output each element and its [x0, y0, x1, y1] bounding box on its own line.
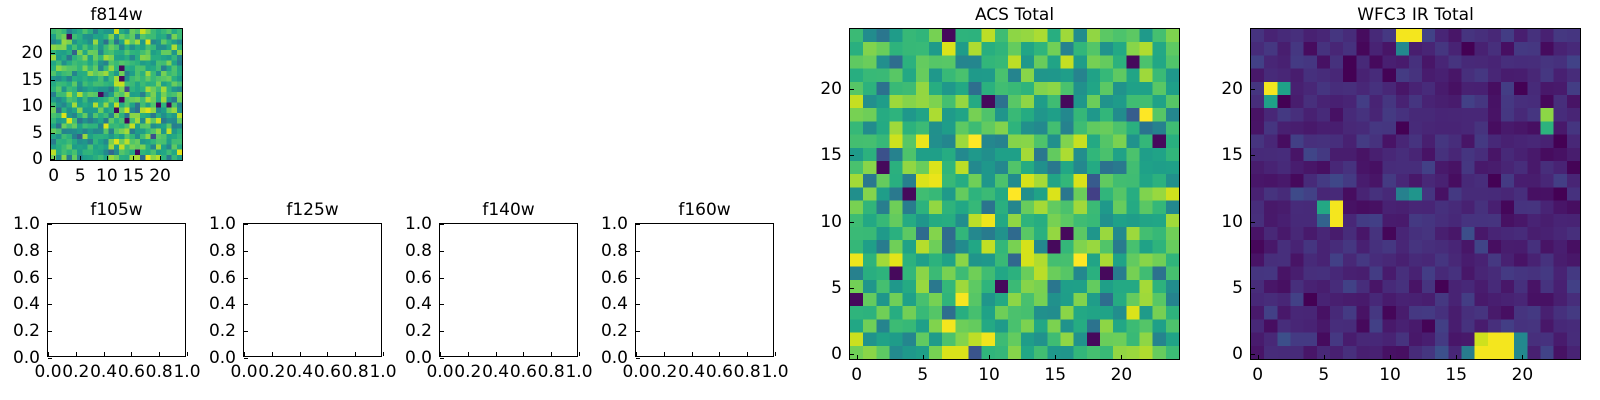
yticklabel-f160w-5: 1.0 — [601, 214, 628, 234]
axes-title-f160w: f160w — [636, 200, 773, 220]
yticklabel-f105w-3: 0.6 — [13, 268, 40, 288]
axes-title-f814w: f814w — [51, 5, 182, 25]
yticklabel-f125w-3: 0.6 — [209, 268, 236, 288]
xticklabel-wfc3-ir-total-3: 15 — [1445, 365, 1467, 385]
xtick-f160w-5 — [775, 352, 776, 356]
axes-title-f125w: f125w — [244, 200, 381, 220]
xtick-f160w-4 — [747, 352, 748, 356]
ytick-f105w-4 — [48, 251, 52, 252]
xtick-f105w-3 — [131, 352, 132, 356]
ytick-f125w-5 — [244, 224, 248, 225]
xtick-acs-total-0 — [857, 355, 858, 359]
xticklabel-wfc3-ir-total-0: 0 — [1252, 365, 1263, 385]
xtick-acs-total-1 — [923, 355, 924, 359]
axes-wfc3-ir-total: WFC3 IR Total0510152005101520 — [1250, 28, 1581, 360]
xtick-wfc3-ir-total-3 — [1456, 355, 1457, 359]
ytick-wfc3-ir-total-4 — [1251, 89, 1255, 90]
xtick-wfc3-ir-total-4 — [1522, 355, 1523, 359]
ytick-acs-total-0 — [850, 354, 854, 355]
axes-acs-total: ACS Total0510152005101520 — [849, 28, 1180, 360]
xticklabel-f814w-3: 15 — [123, 166, 145, 186]
ytick-f160w-3 — [636, 278, 640, 279]
xtick-f105w-5 — [187, 352, 188, 356]
xticklabel-f125w-1: 0.2 — [258, 362, 285, 382]
xticklabel-f814w-1: 5 — [75, 166, 86, 186]
xtick-f814w-3 — [133, 156, 134, 160]
yticklabel-f140w-1: 0.2 — [405, 321, 432, 341]
ytick-wfc3-ir-total-0 — [1251, 354, 1255, 355]
xtick-f140w-0 — [440, 352, 441, 356]
ytick-f140w-4 — [440, 251, 444, 252]
yticklabel-f140w-2: 0.4 — [405, 294, 432, 314]
xticklabel-f125w-5: 1.0 — [369, 362, 396, 382]
axes-f105w: f105w0.00.20.40.60.81.00.00.20.40.60.81.… — [47, 223, 186, 357]
xtick-f125w-4 — [355, 352, 356, 356]
yticklabel-acs-total-3: 15 — [820, 145, 842, 165]
xtick-f105w-0 — [48, 352, 49, 356]
xtick-f105w-1 — [76, 352, 77, 356]
xtick-f125w-5 — [383, 352, 384, 356]
ytick-f140w-1 — [440, 331, 444, 332]
axes-title-f105w: f105w — [48, 200, 185, 220]
xticklabel-f140w-1: 0.2 — [454, 362, 481, 382]
ytick-f814w-1 — [51, 133, 55, 134]
ytick-f814w-0 — [51, 159, 55, 160]
ytick-f140w-3 — [440, 278, 444, 279]
matplotlib-figure: f814w0510152005101520f105w0.00.20.40.60.… — [0, 0, 1600, 400]
yticklabel-f125w-4: 0.8 — [209, 241, 236, 261]
ytick-acs-total-4 — [850, 89, 854, 90]
ytick-f125w-0 — [244, 358, 248, 359]
ytick-wfc3-ir-total-1 — [1251, 288, 1255, 289]
xticklabel-f140w-4: 0.8 — [538, 362, 565, 382]
yticklabel-f125w-2: 0.4 — [209, 294, 236, 314]
ytick-f160w-5 — [636, 224, 640, 225]
yticklabel-f140w-0: 0.0 — [405, 348, 432, 368]
xticklabel-acs-total-2: 10 — [978, 365, 1000, 385]
xticklabel-f814w-4: 20 — [149, 166, 171, 186]
xtick-wfc3-ir-total-2 — [1390, 355, 1391, 359]
axes-f814w: f814w0510152005101520 — [50, 28, 183, 161]
axes-f140w: f140w0.00.20.40.60.81.00.00.20.40.60.81.… — [439, 223, 578, 357]
ytick-acs-total-3 — [850, 155, 854, 156]
xtick-f160w-0 — [636, 352, 637, 356]
yticklabel-f125w-5: 1.0 — [209, 214, 236, 234]
xticklabel-f125w-4: 0.8 — [342, 362, 369, 382]
xticklabel-wfc3-ir-total-4: 20 — [1512, 365, 1534, 385]
xtick-f814w-2 — [107, 156, 108, 160]
ytick-f105w-5 — [48, 224, 52, 225]
yticklabel-f140w-4: 0.8 — [405, 241, 432, 261]
yticklabel-f814w-3: 15 — [21, 70, 43, 90]
xtick-f814w-4 — [160, 156, 161, 160]
xticklabel-acs-total-3: 15 — [1044, 365, 1066, 385]
xtick-wfc3-ir-total-1 — [1324, 355, 1325, 359]
yticklabel-wfc3-ir-total-1: 5 — [1232, 278, 1243, 298]
xticklabel-f160w-5: 1.0 — [761, 362, 788, 382]
ytick-f125w-2 — [244, 304, 248, 305]
xtick-acs-total-3 — [1055, 355, 1056, 359]
yticklabel-f105w-5: 1.0 — [13, 214, 40, 234]
yticklabel-acs-total-0: 0 — [831, 344, 842, 364]
xtick-f125w-1 — [272, 352, 273, 356]
ytick-f814w-4 — [51, 53, 55, 54]
xticklabel-acs-total-4: 20 — [1111, 365, 1133, 385]
heatmap-image-wfc3-ir-total — [1251, 29, 1580, 359]
xtick-acs-total-2 — [989, 355, 990, 359]
axes-f160w: f160w0.00.20.40.60.81.00.00.20.40.60.81.… — [635, 223, 774, 357]
xtick-f160w-1 — [664, 352, 665, 356]
ytick-f105w-3 — [48, 278, 52, 279]
xticklabel-f160w-1: 0.2 — [650, 362, 677, 382]
yticklabel-f160w-1: 0.2 — [601, 321, 628, 341]
ytick-f125w-4 — [244, 251, 248, 252]
ytick-f105w-0 — [48, 358, 52, 359]
ytick-f140w-5 — [440, 224, 444, 225]
ytick-f125w-3 — [244, 278, 248, 279]
yticklabel-f125w-0: 0.0 — [209, 348, 236, 368]
xtick-f160w-3 — [719, 352, 720, 356]
xtick-f125w-2 — [300, 352, 301, 356]
ytick-f160w-1 — [636, 331, 640, 332]
yticklabel-f105w-2: 0.4 — [13, 294, 40, 314]
ytick-f140w-0 — [440, 358, 444, 359]
ytick-f160w-4 — [636, 251, 640, 252]
xticklabel-f105w-3: 0.6 — [118, 362, 145, 382]
xtick-f140w-5 — [579, 352, 580, 356]
yticklabel-f814w-0: 0 — [32, 149, 43, 169]
ytick-acs-total-2 — [850, 222, 854, 223]
axes-title-wfc3-ir-total: WFC3 IR Total — [1251, 5, 1580, 25]
yticklabel-acs-total-4: 20 — [820, 79, 842, 99]
axes-title-f140w: f140w — [440, 200, 577, 220]
ytick-f140w-2 — [440, 304, 444, 305]
yticklabel-wfc3-ir-total-2: 10 — [1221, 212, 1243, 232]
yticklabel-f160w-4: 0.8 — [601, 241, 628, 261]
yticklabel-f160w-2: 0.4 — [601, 294, 628, 314]
yticklabel-f814w-2: 10 — [21, 96, 43, 116]
xticklabel-f105w-2: 0.4 — [90, 362, 117, 382]
ytick-wfc3-ir-total-3 — [1251, 155, 1255, 156]
yticklabel-f125w-1: 0.2 — [209, 321, 236, 341]
yticklabel-acs-total-2: 10 — [820, 212, 842, 232]
xtick-f140w-3 — [523, 352, 524, 356]
ytick-f105w-1 — [48, 331, 52, 332]
xtick-f140w-1 — [468, 352, 469, 356]
xtick-f814w-1 — [80, 156, 81, 160]
xtick-f140w-2 — [496, 352, 497, 356]
ytick-acs-total-1 — [850, 288, 854, 289]
xticklabel-f140w-3: 0.6 — [510, 362, 537, 382]
xticklabel-f105w-1: 0.2 — [62, 362, 89, 382]
yticklabel-f105w-4: 0.8 — [13, 241, 40, 261]
xticklabel-f105w-5: 1.0 — [173, 362, 200, 382]
ytick-f125w-1 — [244, 331, 248, 332]
axes-title-acs-total: ACS Total — [850, 5, 1179, 25]
xticklabel-f160w-4: 0.8 — [734, 362, 761, 382]
yticklabel-f814w-1: 5 — [32, 123, 43, 143]
ytick-f814w-3 — [51, 80, 55, 81]
yticklabel-f140w-3: 0.6 — [405, 268, 432, 288]
xticklabel-wfc3-ir-total-2: 10 — [1379, 365, 1401, 385]
yticklabel-wfc3-ir-total-3: 15 — [1221, 145, 1243, 165]
yticklabel-f140w-5: 1.0 — [405, 214, 432, 234]
yticklabel-f160w-3: 0.6 — [601, 268, 628, 288]
heatmap-image-f814w — [51, 29, 182, 160]
ytick-f814w-2 — [51, 106, 55, 107]
xtick-f125w-3 — [327, 352, 328, 356]
xtick-f125w-0 — [244, 352, 245, 356]
ytick-f105w-2 — [48, 304, 52, 305]
yticklabel-f814w-4: 20 — [21, 43, 43, 63]
xticklabel-f105w-4: 0.8 — [146, 362, 173, 382]
xtick-f140w-4 — [551, 352, 552, 356]
xticklabel-f140w-2: 0.4 — [482, 362, 509, 382]
xtick-f105w-2 — [104, 352, 105, 356]
xticklabel-f160w-3: 0.6 — [706, 362, 733, 382]
xtick-acs-total-4 — [1121, 355, 1122, 359]
xticklabel-f125w-2: 0.4 — [286, 362, 313, 382]
xticklabel-f140w-5: 1.0 — [565, 362, 592, 382]
xticklabel-f125w-3: 0.6 — [314, 362, 341, 382]
xticklabel-f814w-0: 0 — [48, 166, 59, 186]
xticklabel-acs-total-1: 5 — [917, 365, 928, 385]
yticklabel-f105w-1: 0.2 — [13, 321, 40, 341]
xticklabel-wfc3-ir-total-1: 5 — [1318, 365, 1329, 385]
ytick-f160w-2 — [636, 304, 640, 305]
xticklabel-f160w-2: 0.4 — [678, 362, 705, 382]
heatmap-image-acs-total — [850, 29, 1179, 359]
xticklabel-acs-total-0: 0 — [851, 365, 862, 385]
yticklabel-wfc3-ir-total-0: 0 — [1232, 344, 1243, 364]
axes-f125w: f125w0.00.20.40.60.81.00.00.20.40.60.81.… — [243, 223, 382, 357]
ytick-wfc3-ir-total-2 — [1251, 222, 1255, 223]
yticklabel-f160w-0: 0.0 — [601, 348, 628, 368]
ytick-f160w-0 — [636, 358, 640, 359]
yticklabel-wfc3-ir-total-4: 20 — [1221, 79, 1243, 99]
xtick-wfc3-ir-total-0 — [1258, 355, 1259, 359]
xticklabel-f814w-2: 10 — [96, 166, 118, 186]
yticklabel-acs-total-1: 5 — [831, 278, 842, 298]
xtick-f105w-4 — [159, 352, 160, 356]
yticklabel-f105w-0: 0.0 — [13, 348, 40, 368]
xtick-f160w-2 — [692, 352, 693, 356]
